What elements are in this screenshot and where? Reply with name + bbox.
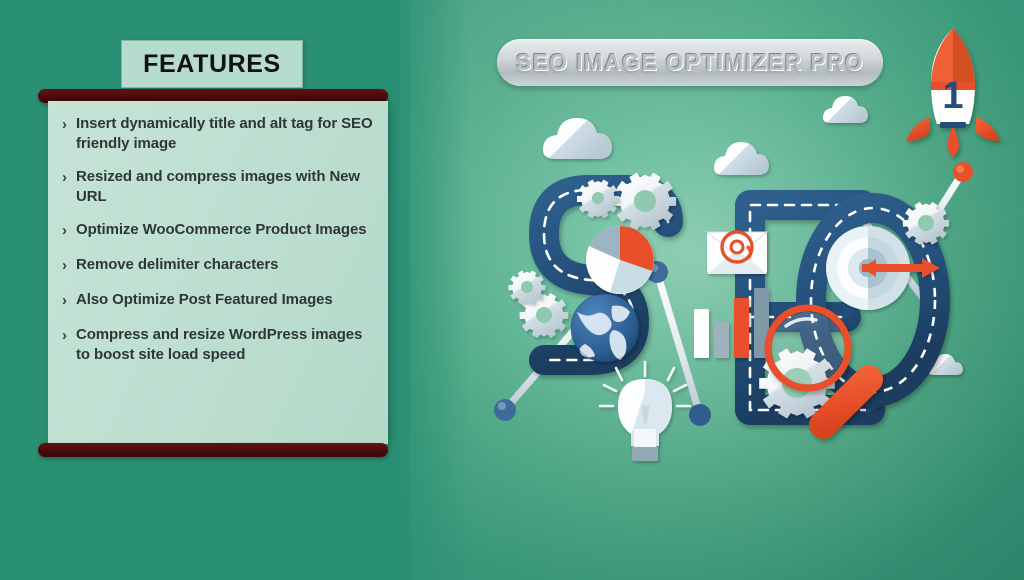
background-left-fade	[380, 0, 470, 580]
chevron-right-icon: ›	[62, 255, 76, 276]
chevron-right-icon: ›	[62, 220, 76, 241]
list-item: › Optimize WooCommerce Product Images	[62, 220, 374, 241]
features-heading-box: FEATURES	[121, 40, 303, 88]
chevron-right-icon: ›	[62, 325, 76, 346]
list-item: › Compress and resize WordPress images t…	[62, 325, 374, 364]
chevron-right-icon: ›	[62, 167, 76, 188]
list-item: › Remove delimiter characters	[62, 255, 374, 276]
panel-bottom-bar	[38, 443, 388, 457]
chevron-right-icon: ›	[62, 290, 76, 311]
features-list: › Insert dynamically title and alt tag f…	[48, 101, 388, 444]
promo-banner: FEATURES › Insert dynamically title and …	[0, 0, 1024, 580]
background-sheen	[400, 0, 1024, 580]
list-item-label: Insert dynamically title and alt tag for…	[76, 114, 374, 153]
features-heading-label: FEATURES	[143, 50, 281, 79]
list-item: › Resized and compress images with New U…	[62, 167, 374, 206]
list-item-label: Also Optimize Post Featured Images	[76, 290, 374, 310]
page-title: SEO IMAGE OPTIMIZER PRO	[516, 49, 864, 76]
list-item-label: Compress and resize WordPress images to …	[76, 325, 374, 364]
list-item: › Insert dynamically title and alt tag f…	[62, 114, 374, 153]
list-item-label: Resized and compress images with New URL	[76, 167, 374, 206]
chevron-right-icon: ›	[62, 114, 76, 135]
list-item-label: Optimize WooCommerce Product Images	[76, 220, 374, 240]
list-item-label: Remove delimiter characters	[76, 255, 374, 275]
product-title-banner: SEO IMAGE OPTIMIZER PRO	[497, 39, 883, 86]
list-item: › Also Optimize Post Featured Images	[62, 290, 374, 311]
